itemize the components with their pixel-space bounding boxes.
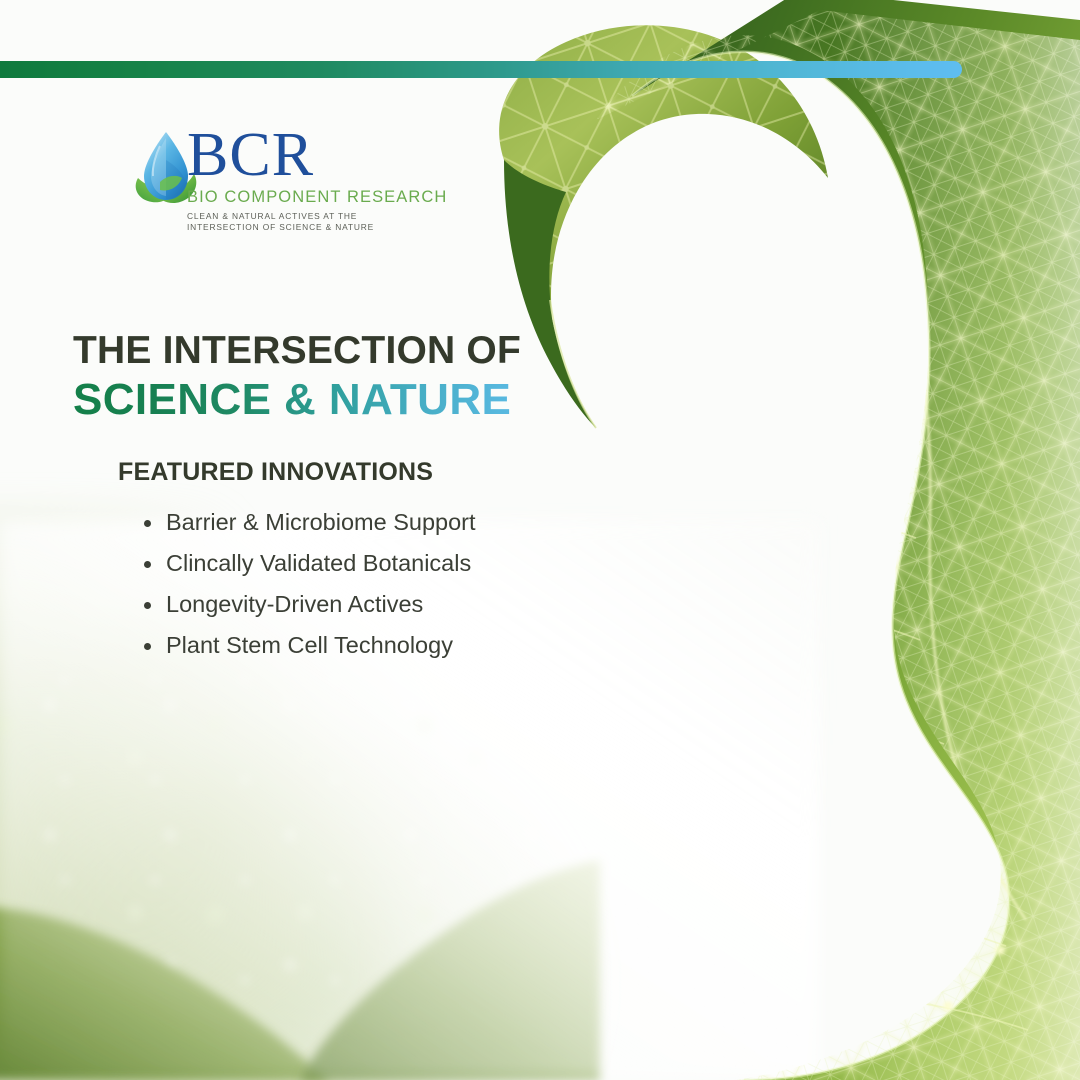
top-gradient-bar bbox=[0, 61, 962, 78]
bcr-logo[interactable]: BCR BIO COMPONENT RESEARCH CLEAN & NATUR… bbox=[130, 124, 390, 234]
featured-innovations-block: FEATURED INNOVATIONS Barrier & Microbiom… bbox=[118, 457, 588, 666]
headline-line-2: SCIENCE & NATURE bbox=[73, 374, 593, 426]
logo-tagline: CLEAN & NATURAL ACTIVES AT THE INTERSECT… bbox=[187, 211, 447, 232]
headline-line-1: THE INTERSECTION OF bbox=[73, 327, 593, 374]
logo-initials: BCR bbox=[187, 124, 447, 186]
headline-block: THE INTERSECTION OF SCIENCE & NATURE bbox=[73, 327, 593, 426]
logo-full-name: BIO COMPONENT RESEARCH bbox=[187, 188, 447, 206]
list-item: Plant Stem Cell Technology bbox=[118, 625, 588, 666]
logo-tagline-line2: INTERSECTION OF SCIENCE & NATURE bbox=[187, 222, 447, 233]
logo-tagline-line1: CLEAN & NATURAL ACTIVES AT THE bbox=[187, 211, 447, 222]
poster-canvas: BCR BIO COMPONENT RESEARCH CLEAN & NATUR… bbox=[0, 0, 1080, 1080]
list-item: Clincally Validated Botanicals bbox=[118, 543, 588, 584]
features-heading: FEATURED INNOVATIONS bbox=[118, 457, 588, 487]
list-item: Longevity-Driven Actives bbox=[118, 584, 588, 625]
list-item: Barrier & Microbiome Support bbox=[118, 502, 588, 543]
logo-wordmark: BCR BIO COMPONENT RESEARCH CLEAN & NATUR… bbox=[187, 124, 447, 232]
features-list: Barrier & Microbiome Support Clincally V… bbox=[118, 502, 588, 666]
